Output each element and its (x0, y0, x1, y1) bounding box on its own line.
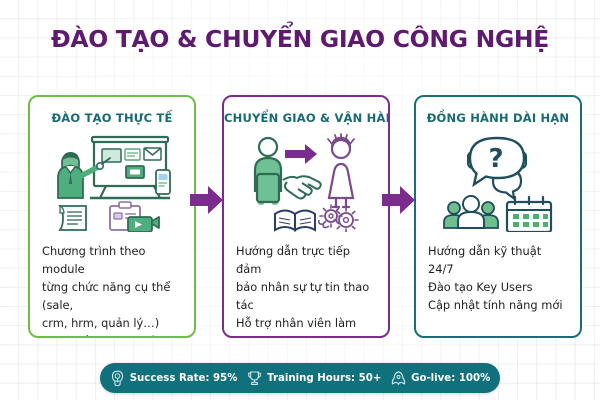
page-title: ĐÀO TẠO & CHUYỂN GIAO CÔNG NGHỆ (0, 25, 600, 53)
stat-success-rate: Success Rate: 95% (110, 370, 238, 386)
svg-text:?: ? (488, 144, 503, 174)
rocket-launch-icon (391, 370, 406, 386)
stat-training-hours: Training Hours: 50+ (247, 370, 381, 386)
card-body-text: Hướng dẫn kỹ thuật 24/7 Đào tạo Key User… (428, 242, 570, 314)
stat-label: Go-live: 100% (411, 373, 490, 384)
stat-go-live: Go-live: 100% (391, 370, 490, 386)
trophy-icon (247, 370, 262, 386)
arrow-card2-to-card3 (382, 185, 416, 215)
support-chat-illustration: ? (416, 131, 580, 233)
lightbulb-shield-icon (110, 370, 125, 386)
card-title: ĐÀO TẠO THỰC TẾ (30, 111, 194, 125)
card-body-text: Hướng dẫn trực tiếp đảm bảo nhân sự tự t… (236, 242, 378, 338)
card-title: CHUYỂN GIAO & VẬN HÀNH (224, 111, 388, 125)
infographic-canvas: ĐÀO TẠO & CHUYỂN GIAO CÔNG NGHỆ ĐÀO TẠO … (0, 0, 600, 400)
card-title: ĐỒNG HÀNH DÀI HẠN (416, 111, 580, 125)
stats-banner: Success Rate: 95% Training Hours: 50+ (100, 363, 500, 393)
card-body-text: Chương trình theo module từng chức năng … (42, 242, 184, 338)
stat-label: Success Rate: 95% (130, 373, 238, 384)
card-dong-hanh-dai-han[interactable]: ĐỒNG HÀNH DÀI HẠN ? (414, 95, 582, 338)
arrow-card1-to-card2 (190, 185, 224, 215)
trainer-whiteboard-illustration (30, 131, 194, 233)
handover-handshake-illustration (224, 131, 388, 233)
card-dao-tao-thuc-te[interactable]: ĐÀO TẠO THỰC TẾ (28, 95, 196, 338)
stat-label: Training Hours: 50+ (267, 373, 381, 384)
card-chuyen-giao-van-hanh[interactable]: CHUYỂN GIAO & VẬN HÀNH (222, 95, 390, 338)
